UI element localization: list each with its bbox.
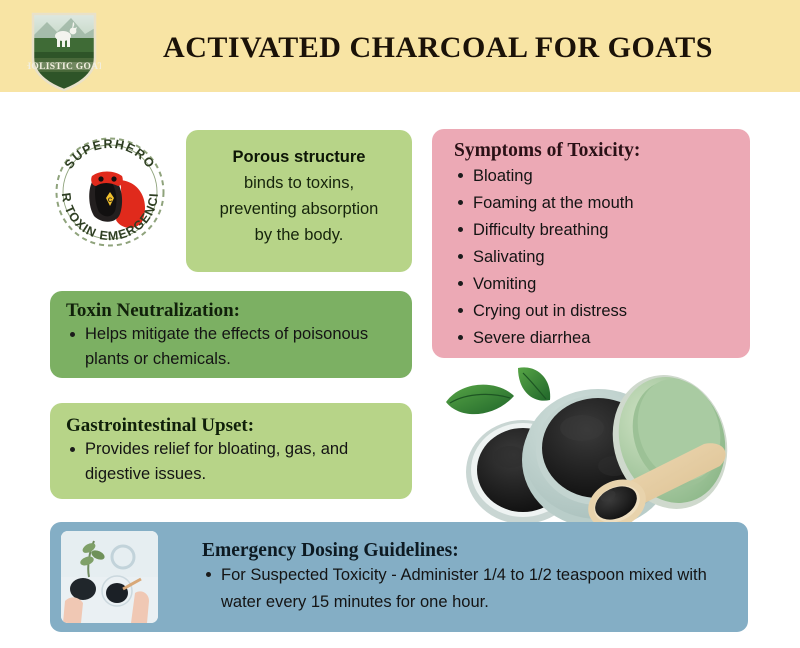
- gastrointestinal-list: Provides relief for bloating, gas, and d…: [66, 437, 402, 487]
- list-item: Provides relief for bloating, gas, and d…: [66, 437, 402, 487]
- porous-structure-line2: binds to toxins,: [244, 174, 354, 192]
- porous-structure-line3: preventing absorption: [220, 200, 379, 218]
- list-item: Severe diarrhea: [454, 325, 740, 352]
- page-title: ACTIVATED CHARCOAL FOR GOATS: [118, 26, 758, 70]
- emergency-dosing-text: Emergency Dosing Guidelines: For Suspect…: [202, 540, 732, 616]
- list-item: Foaming at the mouth: [454, 190, 740, 217]
- list-item: For Suspected Toxicity - Administer 1/4 …: [202, 562, 732, 616]
- symptoms-heading: Symptoms of Toxicity:: [454, 140, 740, 162]
- porous-structure-text: Porous structure binds to toxins, preven…: [200, 144, 398, 248]
- infographic-page: HOLISTIC GOAT ACTIVATED CHARCOAL FOR GOA…: [0, 0, 800, 648]
- activated-charcoal-jars-photo: [432, 362, 762, 534]
- emergency-dosing-list: For Suspected Toxicity - Administer 1/4 …: [202, 562, 732, 616]
- card-symptoms-of-toxicity: Symptoms of Toxicity: Bloating Foaming a…: [432, 129, 750, 358]
- list-item: Crying out in distress: [454, 298, 740, 325]
- list-item: Bloating: [454, 163, 740, 190]
- toxin-neutralization-list: Helps mitigate the effects of poisonous …: [66, 322, 402, 372]
- list-item: Difficulty breathing: [454, 217, 740, 244]
- symptoms-list: Bloating Foaming at the mouth Difficulty…: [454, 163, 740, 352]
- card-toxin-neutralization: Toxin Neutralization: Helps mitigate the…: [50, 291, 412, 378]
- card-porous-structure: Porous structure binds to toxins, preven…: [186, 130, 412, 272]
- emergency-dosing-heading: Emergency Dosing Guidelines:: [202, 540, 732, 562]
- porous-structure-lead: Porous structure: [233, 148, 366, 166]
- list-item: Salivating: [454, 244, 740, 271]
- list-item: Vomiting: [454, 271, 740, 298]
- toxin-neutralization-heading: Toxin Neutralization:: [66, 300, 402, 322]
- logo-wordmark: HOLISTIC GOAT: [27, 62, 101, 72]
- superhero-badge: C SUPERHERO FOR TOXIN EMERGENCIES: [46, 128, 174, 256]
- gastrointestinal-heading: Gastrointestinal Upset:: [66, 415, 402, 437]
- card-gastrointestinal-upset: Gastrointestinal Upset: Provides relief …: [50, 403, 412, 499]
- holistic-goat-logo: HOLISTIC GOAT: [27, 8, 101, 94]
- list-item: Helps mitigate the effects of poisonous …: [66, 322, 402, 372]
- charcoal-mixing-photo: [61, 531, 158, 623]
- card-emergency-dosing: Emergency Dosing Guidelines: For Suspect…: [50, 522, 748, 632]
- svg-text:C: C: [108, 198, 113, 204]
- porous-structure-line4: by the body.: [255, 226, 344, 244]
